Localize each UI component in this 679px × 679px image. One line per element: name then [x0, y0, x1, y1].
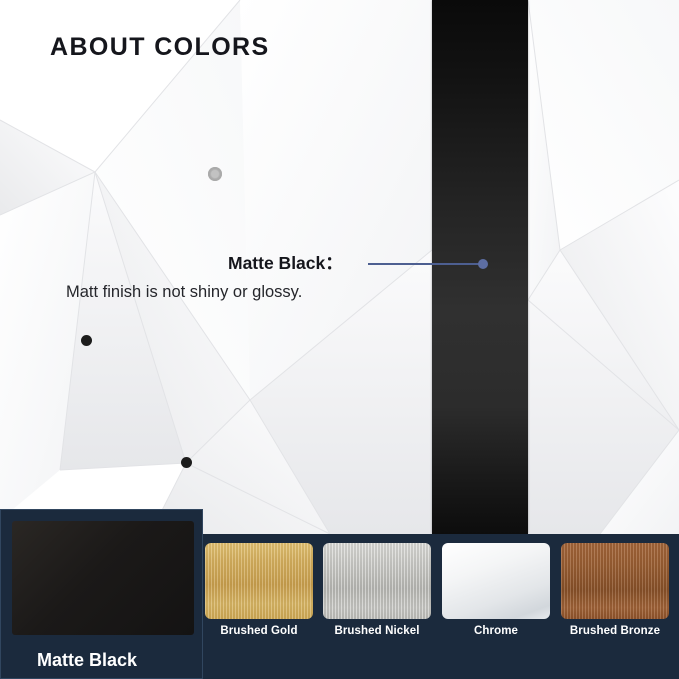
- callout-description: Matt finish is not shiny or glossy.: [66, 283, 302, 302]
- swatch-chip-chrome[interactable]: [442, 543, 550, 619]
- black-dot-icon: [81, 335, 92, 346]
- swatch-brushed-gold[interactable]: Brushed Gold: [205, 543, 313, 637]
- swatch-chip-matte-black[interactable]: [12, 521, 194, 635]
- leader-line: [368, 263, 482, 265]
- leader-dot-icon: [478, 259, 488, 269]
- about-colors-panel: ABOUT COLORS Matte Black： Matt finish is…: [0, 0, 679, 679]
- swatch-label-chrome: Chrome: [442, 625, 550, 637]
- swatch-label-matte-black: Matte Black: [37, 650, 137, 671]
- swatch-chip-brushed-nickel[interactable]: [323, 543, 431, 619]
- callout-title: Matte Black：: [228, 250, 343, 275]
- page-title: ABOUT COLORS: [50, 33, 270, 62]
- swatch-brushed-nickel[interactable]: Brushed Nickel: [323, 543, 431, 637]
- swatch-label-brushed-gold: Brushed Gold: [205, 625, 313, 637]
- swatch-chip-brushed-gold[interactable]: [205, 543, 313, 619]
- swatch-chrome[interactable]: Chrome: [442, 543, 550, 637]
- swatch-label-brushed-nickel: Brushed Nickel: [323, 625, 431, 637]
- swatch-chip-brushed-bronze[interactable]: [561, 543, 669, 619]
- swatch-brushed-bronze[interactable]: Brushed Bronze: [561, 543, 669, 637]
- swatch-label-brushed-bronze: Brushed Bronze: [561, 625, 669, 637]
- swatch-matte-black-selected[interactable]: Matte Black: [0, 509, 203, 679]
- gray-dot-icon: [208, 167, 222, 181]
- black-dot-icon: [181, 457, 192, 468]
